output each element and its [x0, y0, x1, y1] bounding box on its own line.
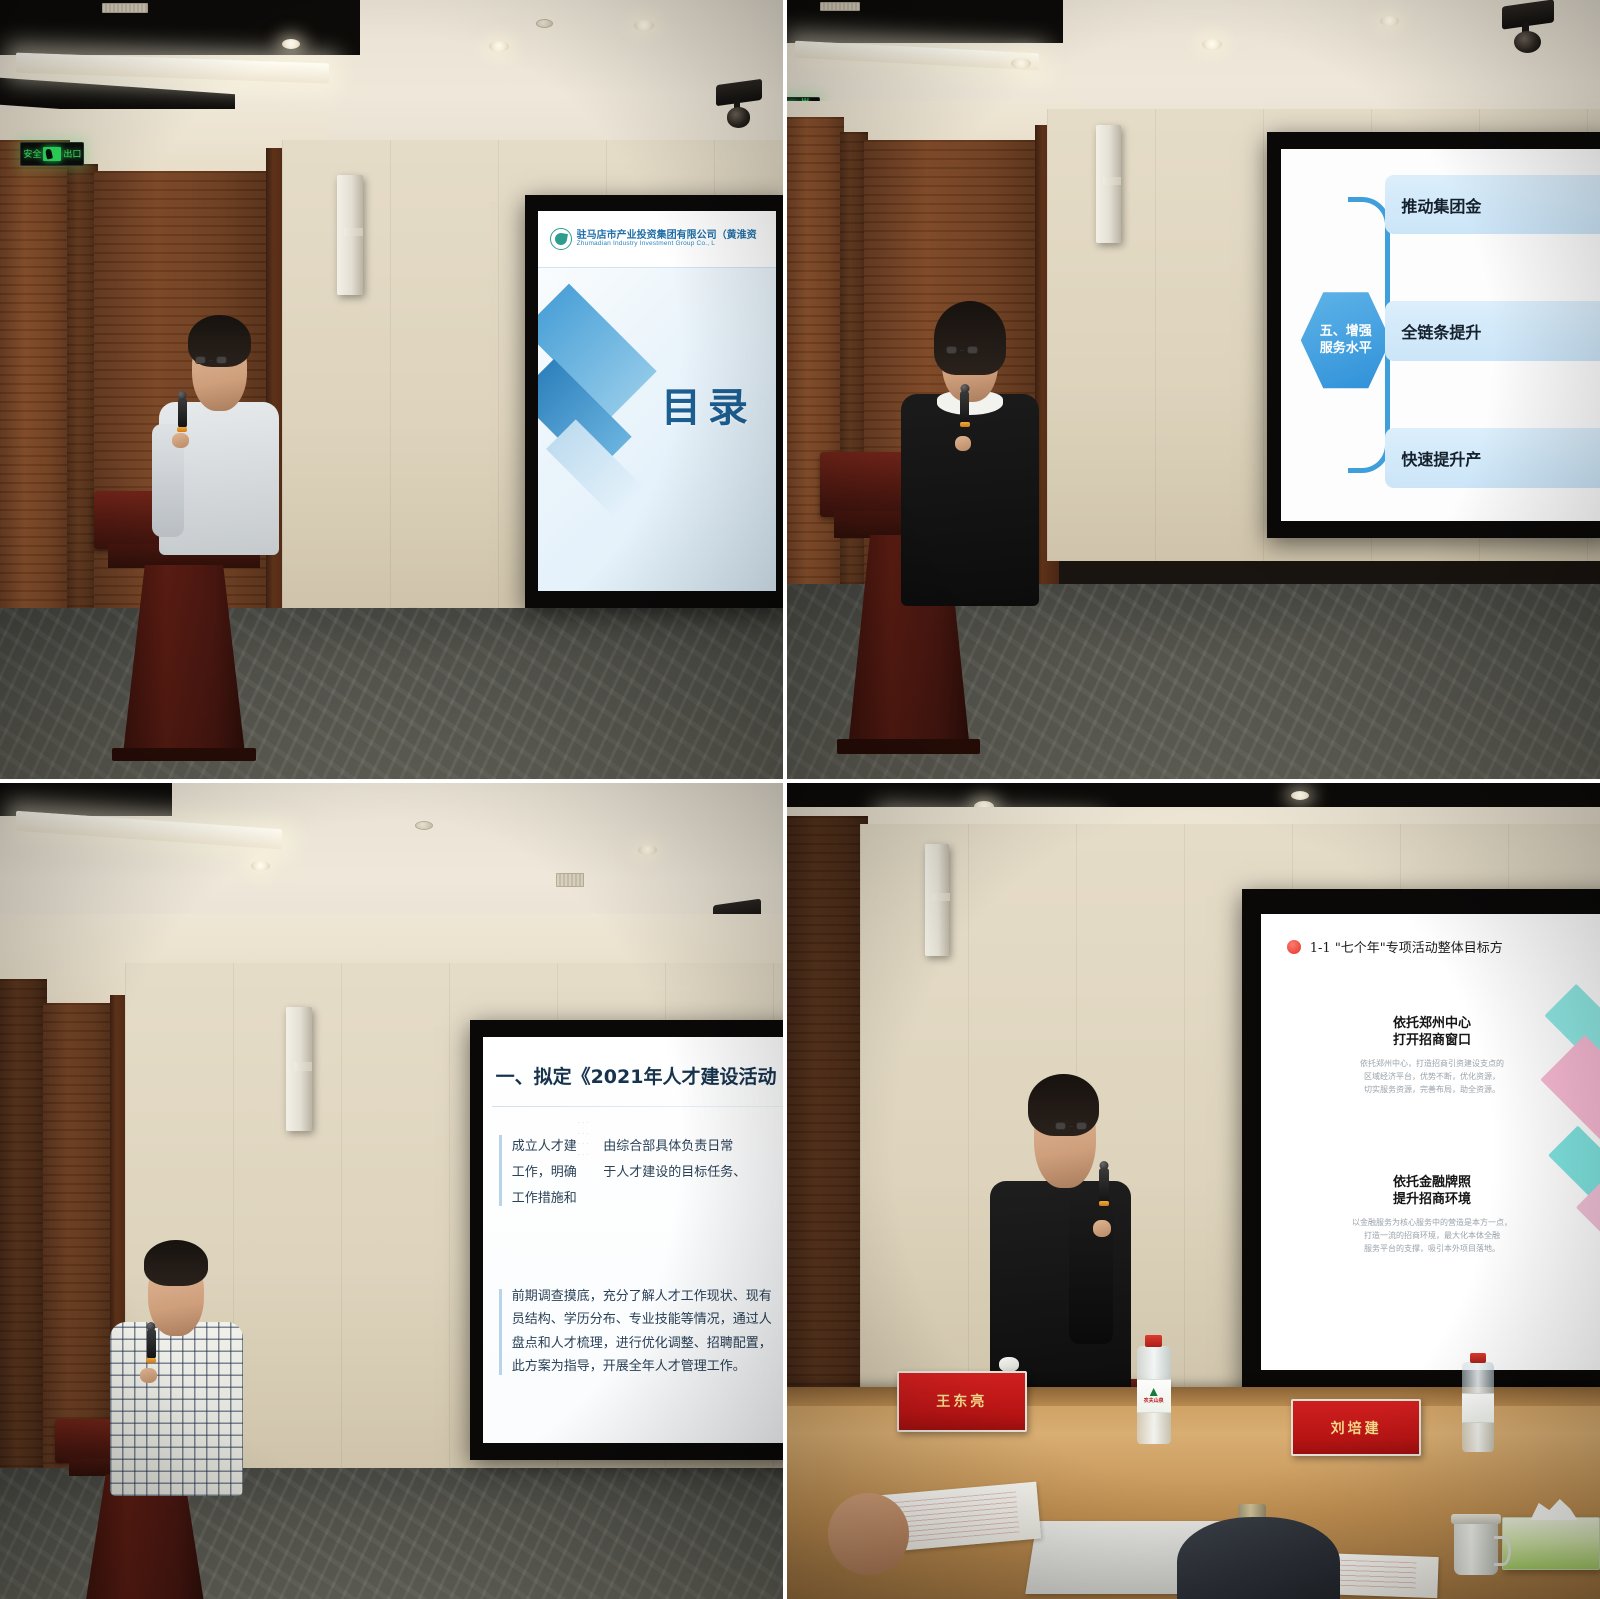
presenter-hand [955, 436, 971, 451]
microphone [1099, 1168, 1109, 1202]
presenter-torso [901, 394, 1039, 606]
bottle-cap [1470, 1353, 1486, 1364]
goal-section-2-body: 以金融服务为核心服务中的营造是本方一点， 打造一流的招商环境，最大化本体全融 服… [1323, 1216, 1541, 1256]
company-logo-icon [550, 228, 572, 250]
exit-sign-label-left: 安全 [23, 147, 41, 160]
wood-wall-left [787, 816, 868, 1404]
panel-4-photo: 1-1 "七个年"专项活动整体目标方 依托郑州中心 打开招商窗口 依托郑州中心，… [787, 783, 1600, 1599]
name-card-2: 刘培建 [1291, 1399, 1421, 1456]
glasses-icon [195, 356, 227, 364]
mindmap-item-1: 推动集团金 [1385, 175, 1600, 235]
water-bottle-2 [1462, 1362, 1495, 1452]
left-line-2: 工作，明确 [512, 1161, 592, 1180]
company-name-en: Zhumadian Industry Investment Group Co.,… [577, 241, 757, 248]
ceiling-vent [102, 3, 148, 13]
microphone [147, 1329, 156, 1359]
slide-hexagon-mindmap: 五、增强 服务水平 推动集团金 全链条提升 快速提升产 [1281, 149, 1600, 522]
right-line-2: 于人才建设的目标任务、 [603, 1161, 787, 1180]
projection-screen: 1-1 "七个年"专项活动整体目标方 依托郑州中心 打开招商窗口 依托郑州中心，… [1261, 914, 1600, 1369]
bottle-label: 农夫山泉 [1137, 1379, 1171, 1412]
presenter-hand [1093, 1220, 1111, 1237]
ceiling-projector [1502, 3, 1554, 51]
slide-title: 一、拟定《2021年人才建设活动 [496, 1062, 777, 1089]
slide-header: 1-1 "七个年"专项活动整体目标方 [1287, 937, 1503, 956]
presenter-hair [144, 1240, 208, 1286]
chevron-shape-pink-1 [1541, 1035, 1600, 1140]
bottle-label [1462, 1393, 1495, 1424]
slide-right-column: 由综合部具体负责日常 于人才建设的目标任务、 [603, 1135, 787, 1206]
wall-speaker [286, 1007, 312, 1131]
tissue-box [1502, 1517, 1600, 1570]
presenter-person [110, 1240, 243, 1468]
downlight [489, 41, 509, 52]
wall-speaker [337, 175, 363, 295]
presenter-person [157, 319, 282, 537]
downlight [282, 39, 300, 49]
presenter-hand [172, 433, 189, 448]
projection-screen-frame: 1-1 "七个年"专项活动整体目标方 依托郑州中心 打开招商窗口 依托郑州中心，… [1242, 889, 1600, 1395]
projection-screen-frame: 一、拟定《2021年人才建设活动 · · ·· · ·· · ·· · · 成立… [470, 1020, 787, 1461]
para-line-1: 前期调查摸底，充分了解人才工作现状、现有 [512, 1289, 787, 1305]
bottle-cap [1145, 1335, 1161, 1347]
presenter-person [901, 304, 1039, 569]
wall-speaker [1096, 125, 1121, 243]
presenter-person [990, 1077, 1136, 1403]
exit-sign: 安全 出口 [20, 142, 84, 166]
para-line-2: 员结构、学历分布、专业技能等情况，通过人 [512, 1312, 787, 1328]
glasses-icon [946, 346, 978, 354]
goal-section-1: 依托郑州中心 打开招商窗口 依托郑州中心，打造招商引资建设支点的 区域经济平台，… [1323, 1015, 1541, 1097]
para-line-3: 盘点和人才梳理，进行优化调整、招聘配置， [512, 1336, 787, 1352]
downlight [1380, 16, 1399, 26]
mindmap-item-2: 全链条提升 [1385, 301, 1600, 361]
water-bottle: 农夫山泉 [1137, 1346, 1171, 1444]
collage-grid: 安全 出口 驻马店市产业投资集团有限公司（黄淮资 Zhumadian Indus… [0, 0, 1600, 1599]
ceiling-vent [556, 873, 584, 887]
leaf-icon [1150, 1388, 1158, 1396]
ceiling-recess [0, 0, 360, 55]
goal-section-2: 依托金融牌照 提升招商环境 以金融服务为核心服务中的营造是本方一点， 打造一流的… [1323, 1174, 1541, 1256]
ceiling-recess [787, 783, 1600, 807]
slide-company-header: 驻马店市产业投资集团有限公司（黄淮资 Zhumadian Industry In… [538, 211, 777, 268]
name-card-1: 王东亮 [897, 1371, 1027, 1432]
left-line-1: 成立人才建 [512, 1135, 592, 1154]
bullet-dot-icon [1287, 940, 1301, 954]
downlight [1202, 39, 1222, 50]
wood-wall-left [0, 140, 70, 623]
left-line-3: 工作措施和 [512, 1187, 592, 1206]
smoke-detector-icon [415, 821, 433, 830]
presenter-hair [934, 301, 1006, 375]
bottle-brand: 农夫山泉 [1144, 1397, 1164, 1404]
wood-wall-door [43, 1003, 113, 1476]
travel-mug [1454, 1522, 1499, 1575]
presenter-torso [110, 1322, 243, 1496]
slide-talent-plan: 一、拟定《2021年人才建设活动 · · ·· · ·· · ·· · · 成立… [483, 1037, 787, 1442]
glasses-icon [1055, 1122, 1087, 1130]
ceiling-projector [716, 82, 762, 126]
ceiling-vent [820, 2, 860, 11]
projection-screen-frame: 五、增强 服务水平 推动集团金 全链条提升 快速提升产 [1267, 132, 1600, 537]
panel-2-photo: 出口 五、增强 服务水平 推动集团金 全链条提升 快速提升产 [787, 0, 1600, 783]
slide-left-column: 成立人才建 工作，明确 工作措施和 [499, 1135, 592, 1206]
presenter-hand [140, 1368, 157, 1383]
mindmap-item-3: 快速提升产 [1385, 428, 1600, 488]
slide-cover-toc: 驻马店市产业投资集团有限公司（黄淮资 Zhumadian Industry In… [538, 211, 777, 591]
slide-paragraph: 前期调查摸底，充分了解人才工作现状、现有 员结构、学历分布、专业技能等情况，通过… [499, 1289, 787, 1375]
goal-section-2-heading: 依托金融牌照 提升招商环境 [1323, 1174, 1541, 1209]
projection-screen: 五、增强 服务水平 推动集团金 全链条提升 快速提升产 [1281, 149, 1600, 522]
right-line-1: 由综合部具体负责日常 [603, 1135, 787, 1154]
panel-3-photo: 一、拟定《2021年人才建设活动 · · ·· · ·· · ·· · · 成立… [0, 783, 787, 1599]
panel-1-photo: 安全 出口 驻马店市产业投资集团有限公司（黄淮资 Zhumadian Indus… [0, 0, 787, 783]
projection-screen: 驻马店市产业投资集团有限公司（黄淮资 Zhumadian Industry In… [538, 211, 777, 591]
para-line-4: 此方案为指导，开展全年人才管理工作。 [512, 1359, 787, 1375]
slide-header-text: 1-1 "七个年"专项活动整体目标方 [1310, 937, 1503, 956]
projection-screen-frame: 驻马店市产业投资集团有限公司（黄淮资 Zhumadian Industry In… [525, 195, 787, 608]
mug-lid [1451, 1514, 1501, 1524]
foreground-attendee-hand [828, 1493, 909, 1575]
goal-section-1-heading: 依托郑州中心 打开招商窗口 [1323, 1015, 1541, 1050]
wood-wall-left [0, 979, 47, 1485]
presenter-arm [1069, 1194, 1113, 1344]
microphone [960, 391, 969, 423]
slide-two-column: 成立人才建 工作，明确 工作措施和 由综合部具体负责日常 于人才建设的目标任务、 [499, 1135, 787, 1206]
exit-sign-label-right: 出口 [63, 147, 81, 160]
foreground-attendee [1177, 1517, 1340, 1599]
goal-section-1-body: 依托郑州中心，打造招商引资建设支点的 区域经济平台，优势不断，优化资源， 切实服… [1323, 1057, 1541, 1097]
projection-screen: 一、拟定《2021年人才建设活动 · · ·· · ·· · ·· · · 成立… [483, 1037, 787, 1442]
wall-speaker [925, 844, 949, 956]
slide-goal: 1-1 "七个年"专项活动整体目标方 依托郑州中心 打开招商窗口 依托郑州中心，… [1261, 914, 1600, 1369]
smoke-detector-icon [536, 19, 553, 28]
slide-title: 目录 [661, 375, 755, 433]
chevron-shape-cyan-2 [1548, 1125, 1600, 1198]
running-person-icon [43, 147, 61, 161]
microphone [178, 398, 187, 428]
slide-divider [492, 1106, 787, 1107]
